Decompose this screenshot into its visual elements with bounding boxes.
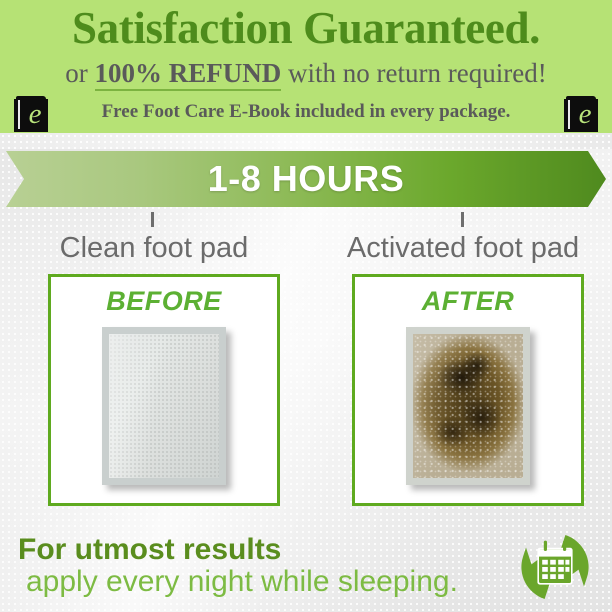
refund-emphasis: 100% REFUND — [95, 58, 282, 91]
caption-activated-foot-pad: Activated foot pad — [318, 232, 608, 265]
ebook-offer-text: Free Foot Care E-Book included in every … — [0, 101, 612, 123]
footer-subtext: apply every night while sleeping. — [26, 565, 458, 599]
before-panel: BEFORE — [48, 274, 280, 506]
header-divider — [0, 133, 612, 149]
after-panel-title: AFTER — [355, 286, 581, 317]
before-pad-photo-wrap — [51, 323, 277, 495]
ebook-icon: e — [564, 96, 598, 132]
ebook-icon-spine — [568, 100, 570, 129]
after-pad-photo-wrap — [355, 323, 581, 495]
before-panel-title: BEFORE — [51, 286, 277, 317]
after-panel: AFTER — [352, 274, 584, 506]
used-foot-pad-photo — [406, 327, 530, 485]
tick-mark-right — [461, 212, 464, 227]
refund-subtitle: or 100% REFUND with no return required! — [0, 58, 612, 89]
refund-suffix: with no return required! — [281, 58, 546, 88]
ebook-icon-letter: e — [572, 97, 598, 132]
caption-clean-foot-pad: Clean foot pad — [44, 232, 264, 265]
refund-prefix: or — [65, 58, 94, 88]
infographic-page: Satisfaction Guaranteed. or 100% REFUND … — [0, 0, 612, 612]
footer-headline: For utmost results — [18, 533, 281, 567]
guarantee-header: Satisfaction Guaranteed. or 100% REFUND … — [0, 0, 612, 136]
duration-banner-label: 1-8 HOURS — [6, 151, 606, 207]
clean-foot-pad-photo — [102, 327, 226, 485]
recycle-calendar-icon — [513, 527, 597, 607]
page-title: Satisfaction Guaranteed. — [0, 2, 612, 54]
tick-mark-left — [151, 212, 154, 227]
